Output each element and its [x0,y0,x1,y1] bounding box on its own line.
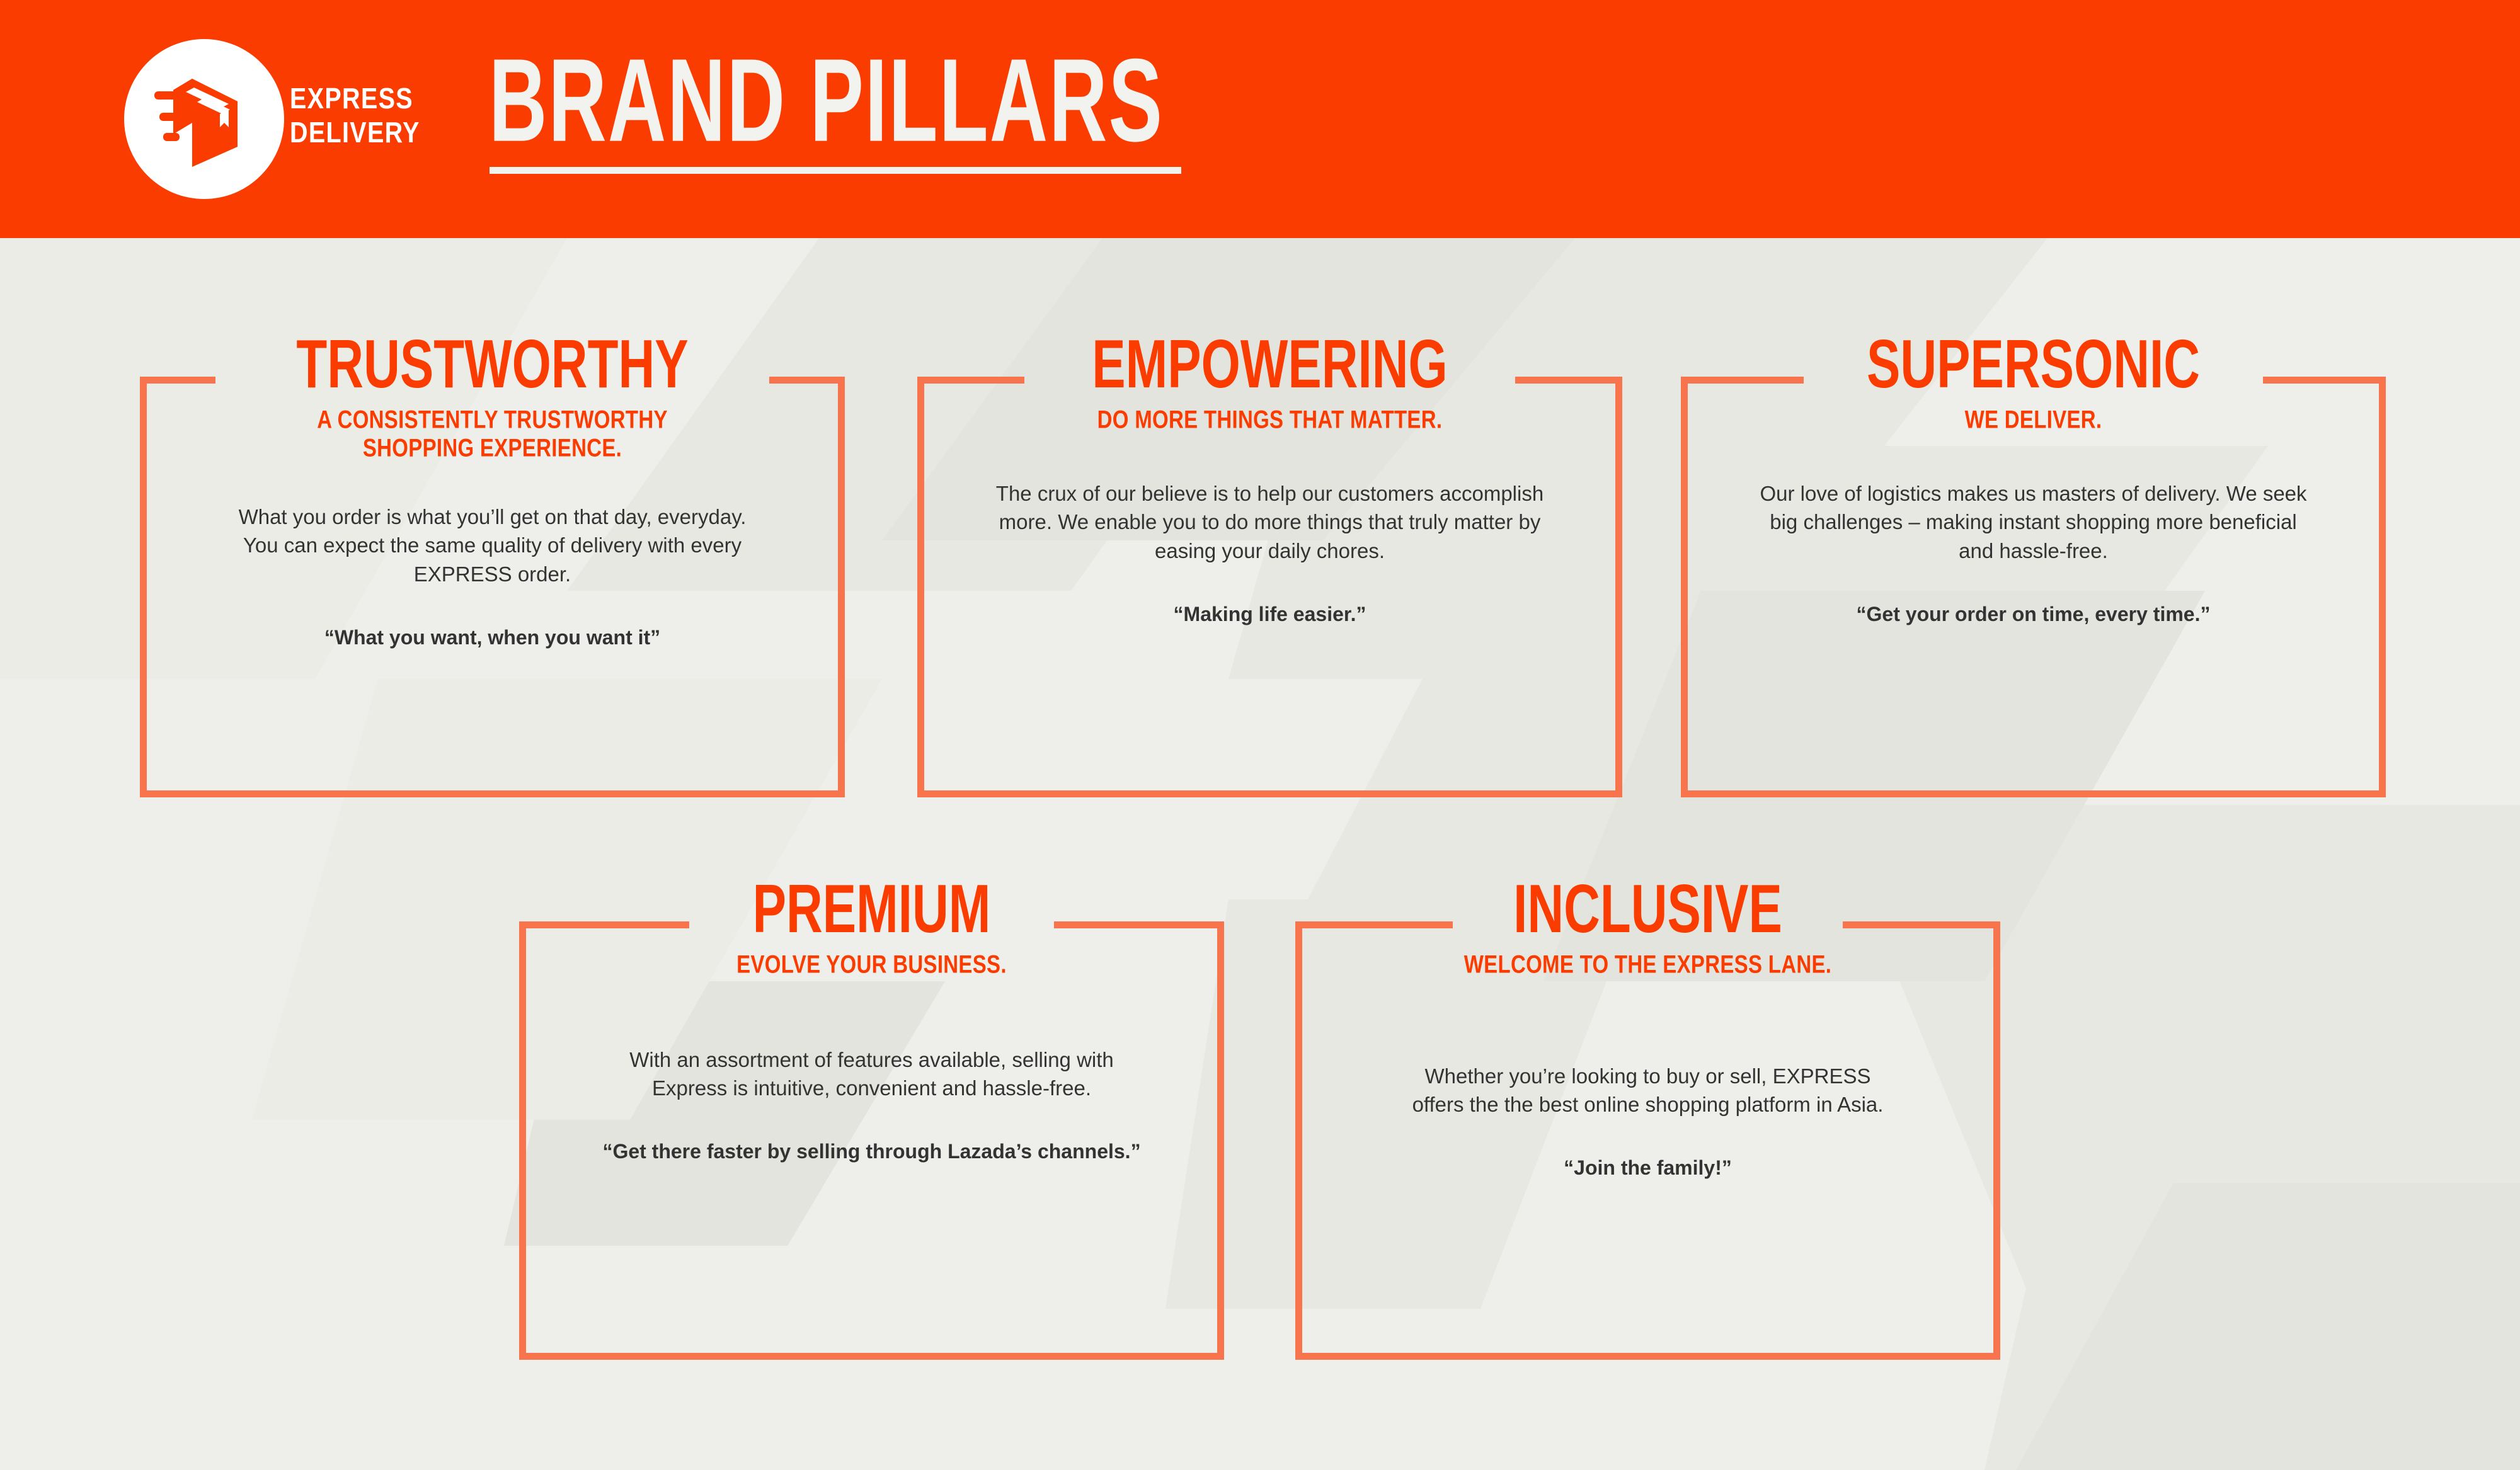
package-delivery-icon [154,74,255,167]
pillar-card-supersonic: SUPERSONIC WE DELIVER. Our love of logis… [1681,377,2386,797]
pillar-description: The crux of our believe is to help our c… [917,479,1622,566]
frame-bottom-edge [917,790,1622,797]
logo-wordmark-line1: EXPRESS [290,82,415,116]
pillar-card-empowering: EMPOWERING DO MORE THINGS THAT MATTER. T… [917,377,1622,797]
pillar-title: INCLUSIVE [1295,875,2000,943]
pillar-title: PREMIUM [519,875,1224,943]
card-content: TRUSTWORTHY A CONSISTENTLY TRUSTWORTHY S… [140,330,845,651]
card-content: PREMIUM EVOLVE YOUR BUSINESS. With an as… [519,875,1224,1165]
pillar-tagline: WE DELIVER. [1681,406,2386,434]
pillar-quote: “Get there faster by selling through Laz… [519,1138,1224,1165]
pillar-description: What you order is what you’ll get on tha… [140,503,845,589]
frame-bottom-edge [140,790,845,797]
pillar-description: Whether you’re looking to buy or sell, E… [1295,1062,2000,1119]
pillar-quote: “Get your order on time, every time.” [1681,601,2386,628]
pillar-quote: “Making life easier.” [917,601,1622,628]
pillar-card-trustworthy: TRUSTWORTHY A CONSISTENTLY TRUSTWORTHY S… [140,377,845,797]
logo-wordmark-line2: DELIVERY [290,116,415,150]
pillar-title: TRUSTWORTHY [140,330,845,399]
pillar-card-inclusive: INCLUSIVE WELCOME TO THE EXPRESS LANE. W… [1295,921,2000,1360]
express-delivery-logo [124,39,284,199]
card-content: INCLUSIVE WELCOME TO THE EXPRESS LANE. W… [1295,875,2000,1182]
page-title: BRAND PILLARS [489,42,1164,159]
pillar-tagline: DO MORE THINGS THAT MATTER. [917,406,1622,434]
pillar-tagline: EVOLVE YOUR BUSINESS. [519,950,1224,979]
pillar-tagline: A CONSISTENTLY TRUSTWORTHY SHOPPING EXPE… [140,406,845,462]
pillar-description: With an assortment of features available… [519,1046,1224,1103]
pillar-quote: “What you want, when you want it” [140,624,845,651]
pillar-quote: “Join the family!” [1295,1154,2000,1182]
pillar-title: EMPOWERING [917,330,1622,399]
title-underline [490,167,1181,174]
pillar-description: Our love of logistics makes us masters o… [1681,479,2386,566]
page-header: EXPRESS DELIVERY BRAND PILLARS [0,0,2520,238]
frame-bottom-edge [1681,790,2386,797]
pillar-tagline: WELCOME TO THE EXPRESS LANE. [1295,950,2000,979]
pillar-title: SUPERSONIC [1681,330,2386,399]
card-content: EMPOWERING DO MORE THINGS THAT MATTER. T… [917,330,1622,628]
card-content: SUPERSONIC WE DELIVER. Our love of logis… [1681,330,2386,628]
frame-bottom-edge [1295,1353,2000,1360]
pillar-card-premium: PREMIUM EVOLVE YOUR BUSINESS. With an as… [519,921,1224,1360]
frame-bottom-edge [519,1353,1224,1360]
logo-wordmark: EXPRESS DELIVERY [290,82,415,150]
